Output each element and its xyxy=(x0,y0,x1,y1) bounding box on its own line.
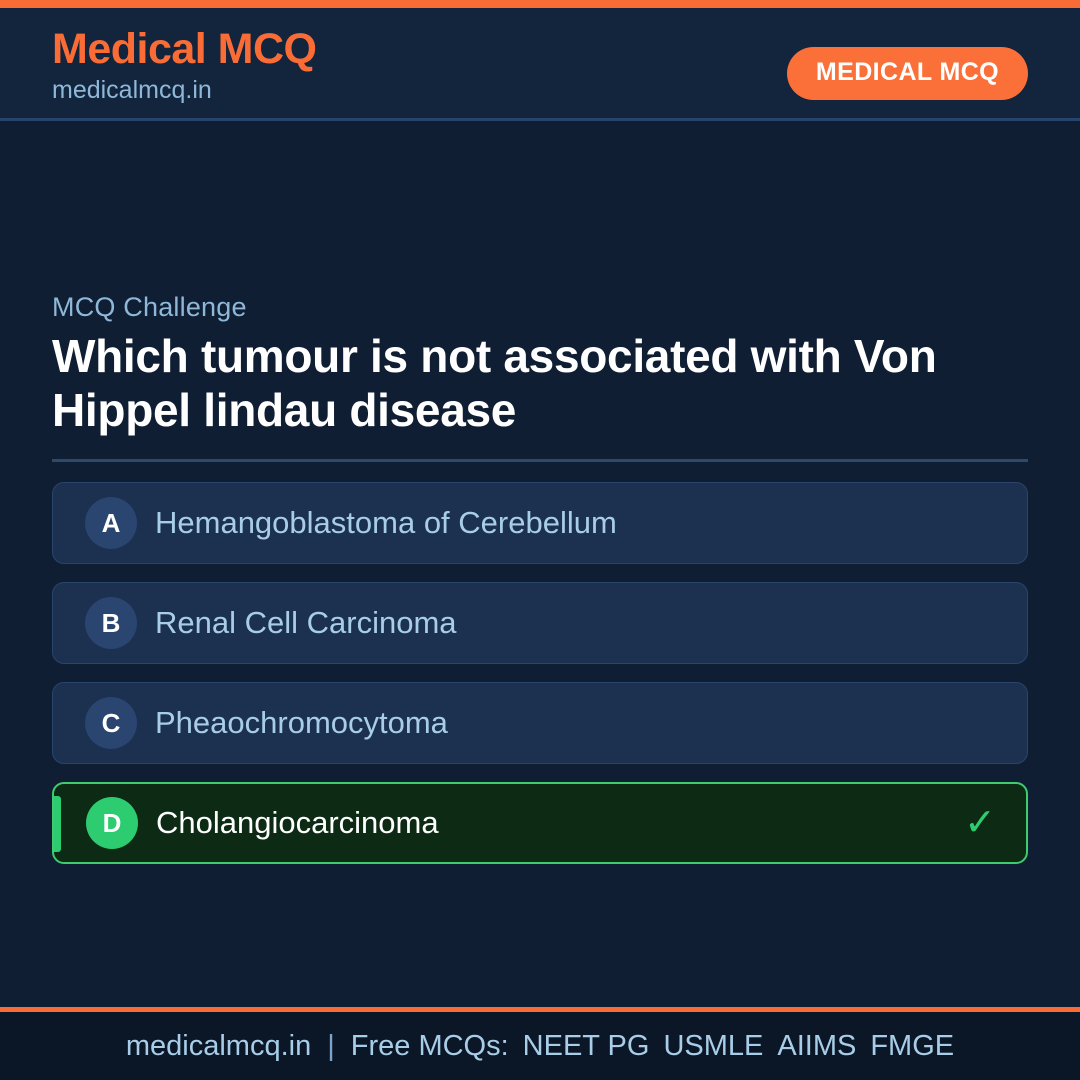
question-card: MCQ Challenge Which tumour is not associ… xyxy=(52,290,1028,864)
footer-tag-usmle: USMLE xyxy=(663,1030,763,1063)
question-text: Which tumour is not associated with Von … xyxy=(52,329,1028,437)
option-c-text: Pheaochromocytoma xyxy=(155,705,448,741)
option-b[interactable]: B Renal Cell Carcinoma xyxy=(52,582,1028,664)
option-d-letter: D xyxy=(86,797,138,849)
option-b-text: Renal Cell Carcinoma xyxy=(155,605,457,641)
option-a-letter: A xyxy=(85,497,137,549)
footer-separator: | xyxy=(311,1030,351,1063)
option-d[interactable]: D Cholangiocarcinoma ✓ xyxy=(52,782,1028,864)
brand-url: medicalmcq.in xyxy=(52,75,317,105)
footer-site: medicalmcq.in xyxy=(126,1030,311,1063)
page-footer: medicalmcq.in | Free MCQs: NEET PG USMLE… xyxy=(0,1012,1080,1080)
option-a-text: Hemangoblastoma of Cerebellum xyxy=(155,505,617,541)
page-header: Medical MCQ medicalmcq.in MEDICAL MCQ xyxy=(0,8,1080,121)
eyebrow-label: MCQ Challenge xyxy=(52,290,1028,324)
question-divider xyxy=(52,459,1028,462)
footer-tag-fmge: FMGE xyxy=(870,1030,954,1063)
footer-tag-aiims: AIIMS xyxy=(777,1030,856,1063)
option-d-text: Cholangiocarcinoma xyxy=(156,805,439,841)
option-b-letter: B xyxy=(85,597,137,649)
top-accent-bar xyxy=(0,0,1080,8)
option-c[interactable]: C Pheaochromocytoma xyxy=(52,682,1028,764)
header-badge: MEDICAL MCQ xyxy=(787,47,1028,100)
correct-accent-bar xyxy=(54,796,61,852)
footer-tag-neetpg: NEET PG xyxy=(523,1030,650,1063)
options-list: A Hemangoblastoma of Cerebellum B Renal … xyxy=(52,482,1028,864)
footer-prefix: Free MCQs: xyxy=(351,1030,509,1063)
footer-text: medicalmcq.in | Free MCQs: NEET PG USMLE… xyxy=(126,1030,954,1063)
check-icon: ✓ xyxy=(964,804,996,842)
brand-block: Medical MCQ medicalmcq.in xyxy=(52,24,317,105)
option-a[interactable]: A Hemangoblastoma of Cerebellum xyxy=(52,482,1028,564)
brand-title: Medical MCQ xyxy=(52,24,317,74)
option-c-letter: C xyxy=(85,697,137,749)
